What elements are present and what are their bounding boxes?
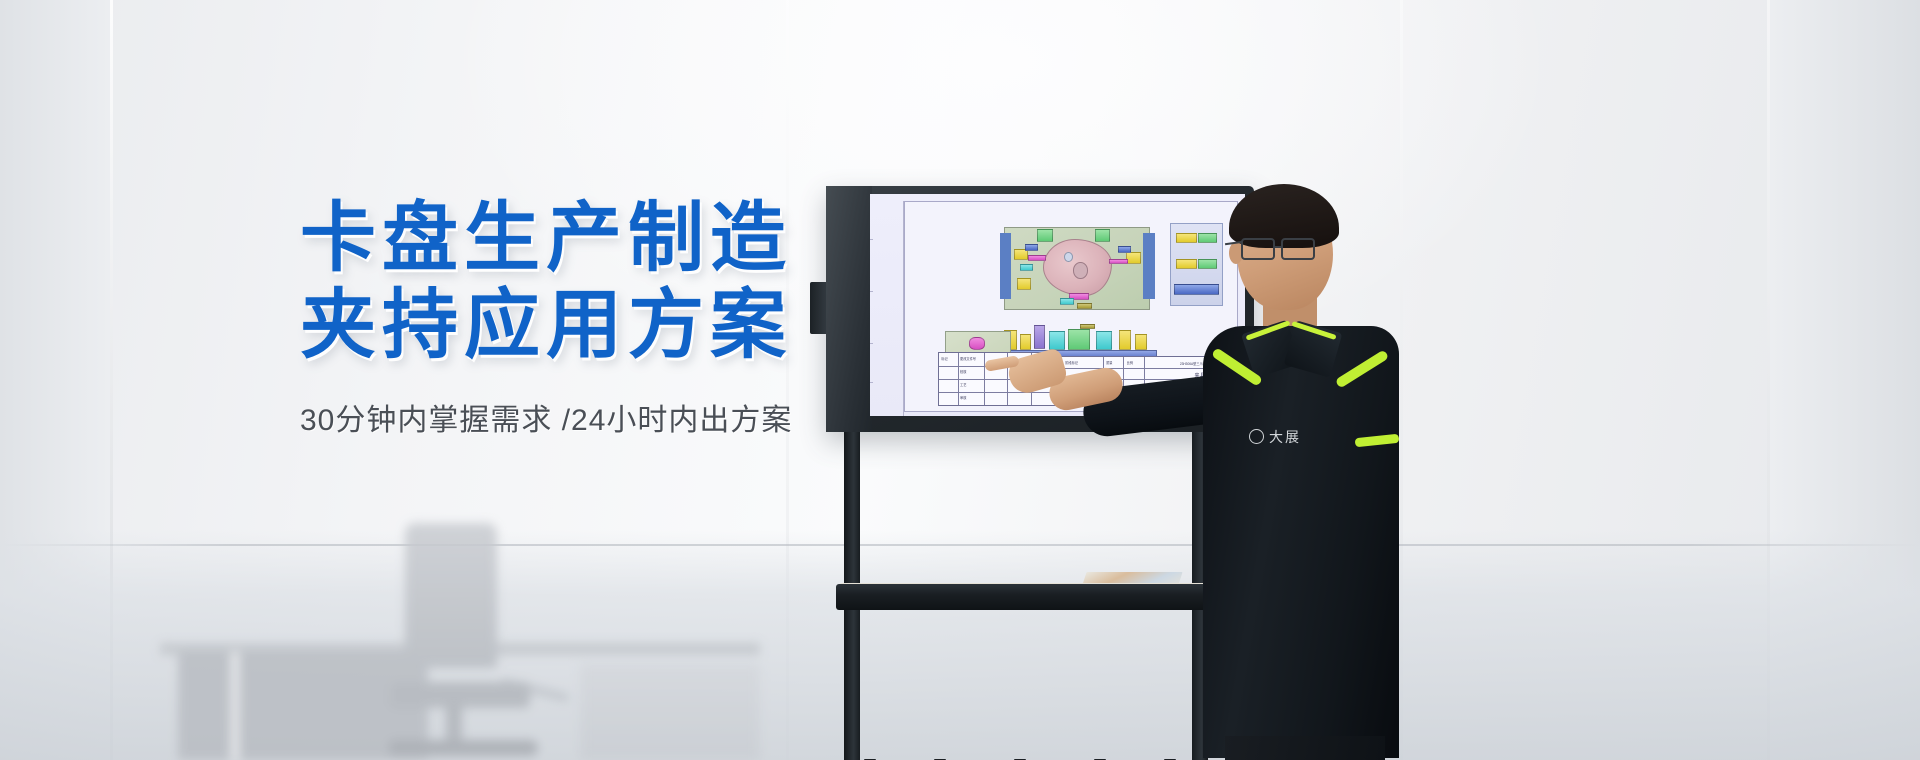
titleblock-field: 阶段标记 [1065, 360, 1078, 365]
front-block-g1 [1068, 329, 1090, 350]
front-hub [1080, 324, 1094, 330]
front-block-p1 [1034, 325, 1045, 348]
cad-left-margin-table [870, 201, 904, 416]
parts-table-field: 审核 [960, 395, 966, 400]
background-furniture [150, 500, 790, 760]
titleblock-field: 比例 [1127, 360, 1133, 365]
pin-olive-bottom [1077, 303, 1091, 310]
parts-table-field: 标记 [941, 356, 947, 361]
locator-magenta-r [1109, 259, 1128, 265]
titleblock-field: 质量 [1106, 360, 1112, 365]
display-left-bezel [826, 186, 872, 432]
parts-table-field: 工艺 [960, 382, 966, 387]
presenter-legs [1225, 736, 1385, 760]
support-cyan-b [1060, 298, 1074, 305]
clamp-green-tr [1095, 229, 1111, 242]
office-chair-post [446, 702, 462, 742]
locator-magenta-l [1028, 255, 1045, 261]
cad-margin-line [870, 382, 873, 383]
glasses-lens-right [1281, 238, 1315, 260]
shirt-logo-text: 大展 [1269, 427, 1301, 447]
workpiece-port [1064, 252, 1073, 262]
presenter-torso [1203, 326, 1399, 758]
front-post-y3 [1119, 330, 1132, 349]
presenter: 大展 [1185, 176, 1405, 760]
bracket-blue-r [1118, 246, 1131, 253]
support-cyan-l [1020, 264, 1033, 271]
table-col-line [958, 353, 959, 405]
parts-table-field: 校核 [960, 369, 966, 374]
front-post-y4 [1135, 334, 1148, 350]
front-block-c1 [1049, 331, 1065, 349]
cad-margin-line [870, 291, 873, 292]
clamp-yellow-r [1126, 252, 1140, 263]
office-chair-base [388, 740, 538, 756]
logo-ring-icon [1249, 429, 1264, 444]
workpiece-bore [1073, 262, 1088, 279]
stand-lower-leg-left [844, 610, 860, 760]
clamp-green-tl [1037, 229, 1053, 242]
stand-shelf [836, 584, 1216, 610]
glasses-bridge [1275, 246, 1283, 248]
hero-banner: 卡盘生产制造 夹持应用方案 30分钟内掌握需求 /24小时内出方案 [0, 0, 1920, 760]
office-chair-back [405, 523, 497, 668]
thumb-part-1 [969, 337, 986, 350]
table-row-line [939, 392, 1056, 393]
fixture-side-plate-left [1000, 233, 1012, 300]
cad-margin-line [870, 239, 873, 240]
shirt-chest-logo: 大展 [1249, 426, 1311, 448]
front-block-c2 [1096, 331, 1112, 349]
workpiece-housing [1043, 239, 1112, 296]
bracket-blue-l [1025, 244, 1038, 251]
desk-gap [230, 652, 240, 760]
stand-upper-leg-left [844, 432, 860, 596]
clamp-yellow-bl [1017, 278, 1031, 289]
headline-line-1: 卡盘生产制造 [300, 196, 792, 281]
front-post-y2 [1020, 334, 1031, 350]
parts-table-field: 更改文件号 [960, 356, 976, 361]
cad-margin-line [870, 343, 873, 344]
desk-right-panel [580, 664, 760, 760]
fixture-side-plate-right [1143, 233, 1155, 300]
table-col-line [984, 353, 985, 405]
glasses-lens-left [1241, 238, 1275, 260]
cad-view-plan [1004, 227, 1150, 311]
